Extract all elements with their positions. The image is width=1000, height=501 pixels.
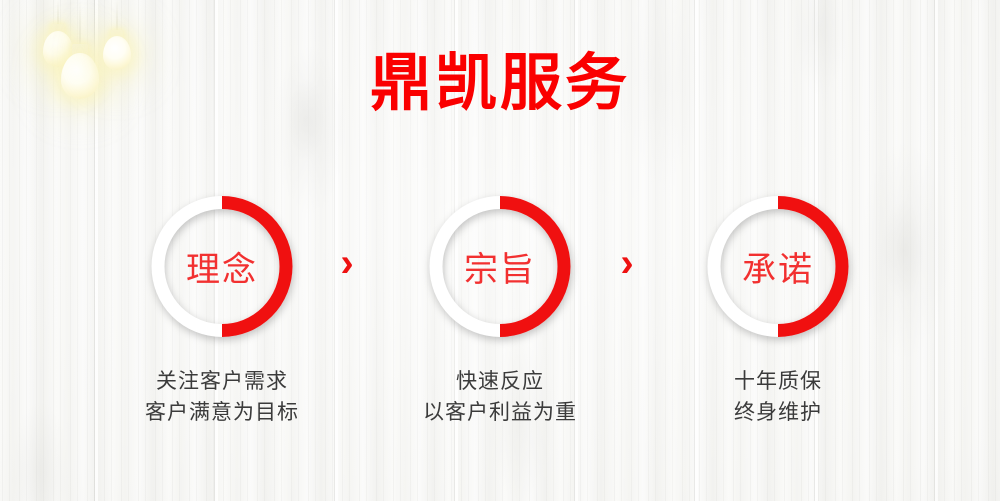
caption-concept-line1: 关注客户需求: [82, 366, 362, 397]
step-captions-row: 关注客户需求 客户满意为目标 快速反应 以客户利益为重 十年质保 终身维护: [0, 366, 1000, 446]
step-circle-concept[interactable]: 理念: [149, 188, 295, 345]
caption-purpose-line1: 快速反应: [360, 366, 640, 397]
process-steps-row: 理念 宗旨 承诺 › ›: [0, 188, 1000, 348]
chevron-right-icon-2: ›: [607, 240, 647, 286]
step-label-concept: 理念: [149, 188, 295, 345]
step-label-promise: 承诺: [705, 188, 851, 345]
caption-concept: 关注客户需求 客户满意为目标: [82, 366, 362, 428]
caption-promise-line1: 十年质保: [638, 366, 918, 397]
caption-promise-line2: 终身维护: [638, 397, 918, 428]
caption-purpose: 快速反应 以客户利益为重: [360, 366, 640, 428]
page-title: 鼎凯服务: [0, 52, 1000, 114]
step-circle-promise[interactable]: 承诺: [705, 188, 851, 345]
step-label-purpose: 宗旨: [427, 188, 573, 345]
caption-promise: 十年质保 终身维护: [638, 366, 918, 428]
chevron-right-icon-1: ›: [327, 240, 367, 286]
step-circle-purpose[interactable]: 宗旨: [427, 188, 573, 345]
caption-purpose-line2: 以客户利益为重: [360, 397, 640, 428]
caption-concept-line2: 客户满意为目标: [82, 397, 362, 428]
slide-canvas: 鼎凯服务 理念 宗旨: [0, 0, 1000, 501]
